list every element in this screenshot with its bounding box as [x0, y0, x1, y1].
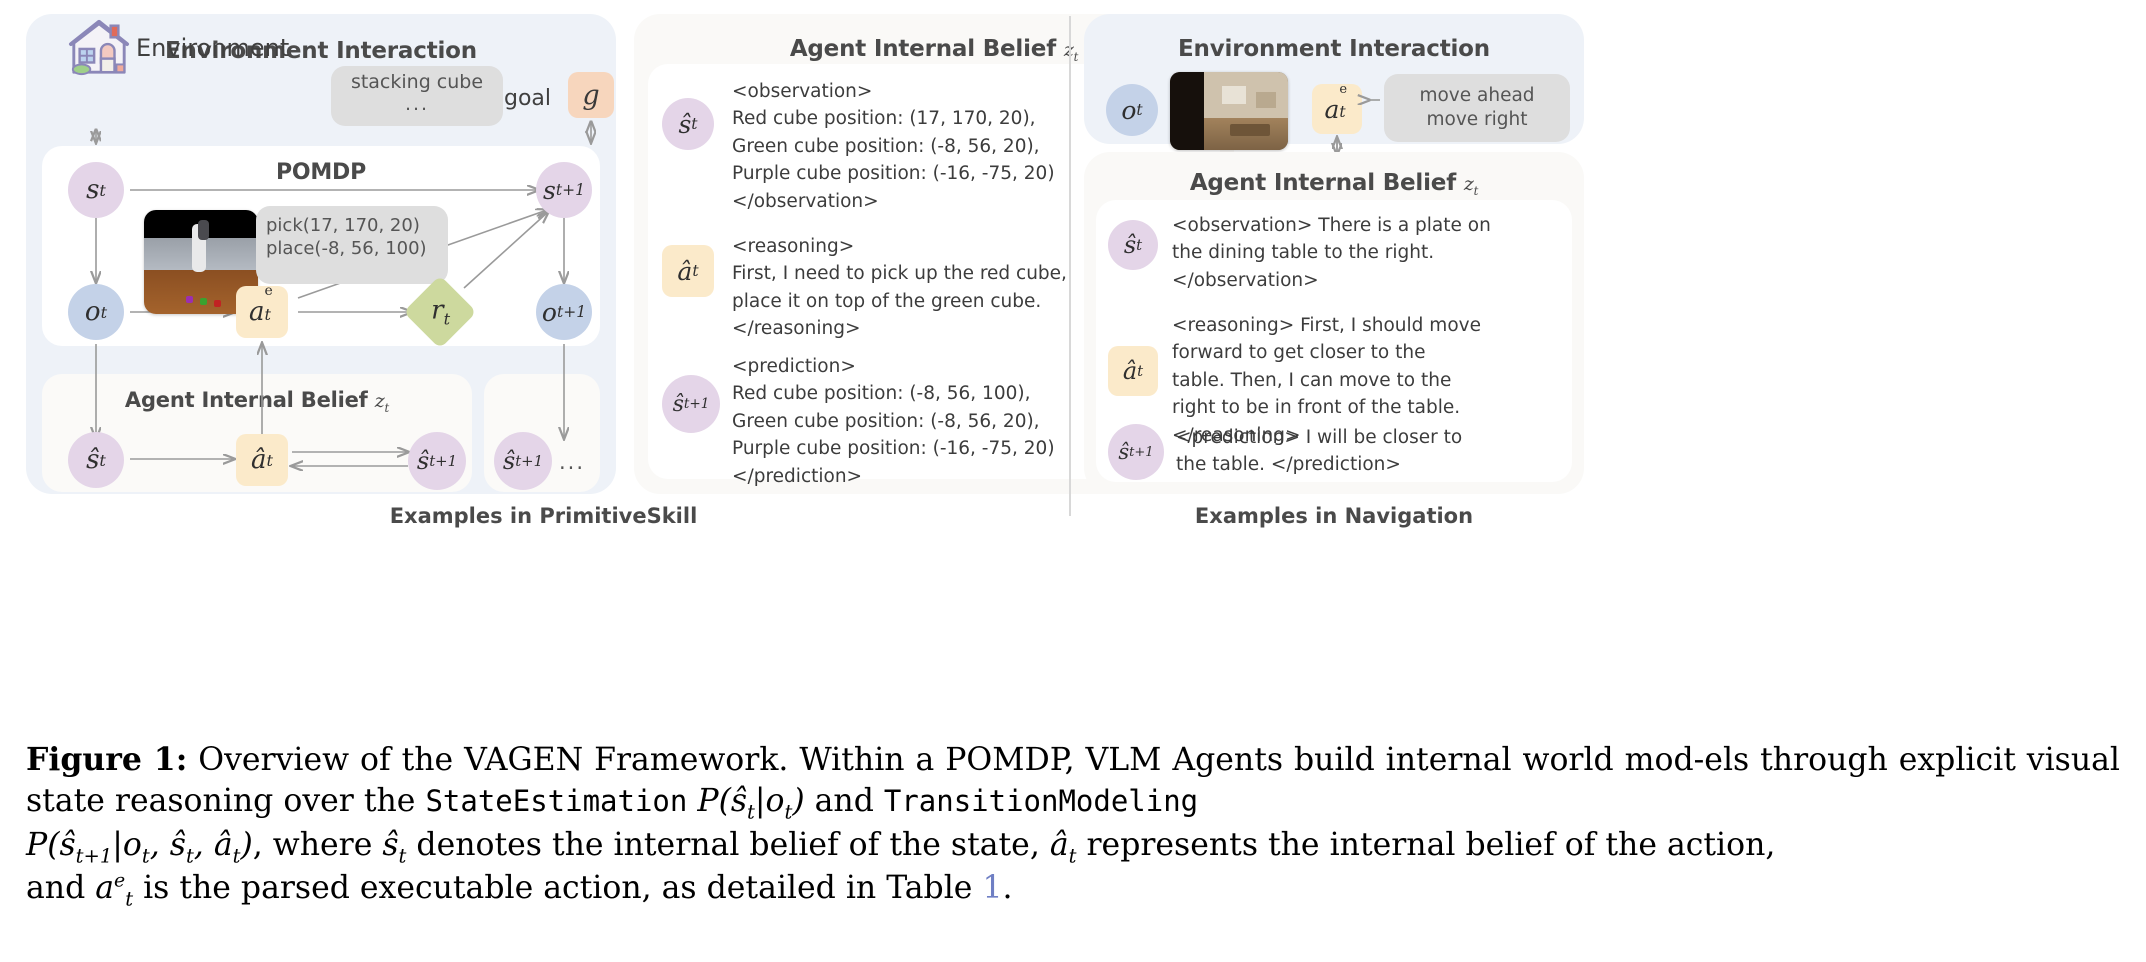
pomdp-title: POMDP [42, 160, 600, 185]
middle-prediction-text: <prediction> Red cube position: (-8, 56,… [732, 353, 1055, 490]
figure-caption: Figure 1: Overview of the VAGEN Framewor… [26, 740, 2120, 912]
node-s-hat-t: ŝt [68, 432, 124, 488]
diagram-area: Environment Interaction Environment [26, 10, 2116, 530]
node-s-hat-t-plus-1-next: ŝt+1 [494, 432, 552, 490]
right-belief-title-text: Agent Internal Belief [1190, 170, 1456, 196]
right-belief-card: ŝt <observation> There is a plate on the… [1096, 200, 1572, 482]
column-divider [1069, 16, 1071, 516]
environment-label: Environment [136, 34, 289, 62]
figure-caption-part3: and [805, 783, 884, 819]
badge-right-s-hat-t: ŝt [1108, 220, 1158, 270]
left-belief-title-text: Agent Internal Belief [125, 388, 368, 412]
badge-a-hat-t: ât [662, 245, 714, 297]
middle-panel-title-sub: zt [1064, 39, 1078, 61]
node-a-hat-t: ât [236, 434, 288, 486]
house-icon [68, 16, 130, 78]
figure-caption-math2: P(ŝt+1|ot, ŝt, ât) [26, 827, 253, 863]
middle-reasoning-text: <reasoning> First, I need to pick up the… [732, 233, 1067, 343]
action-bubble: pick(17, 170, 20) place(-8, 56, 100) [256, 206, 448, 284]
task-bubble: stacking cube ... [331, 66, 503, 126]
right-prediction-text: <prediction> I will be closer to the tab… [1176, 424, 1462, 480]
right-block-prediction: ŝt+1 <prediction> I will be closer to th… [1108, 422, 1566, 480]
right-belief-title: Agent Internal Belief zt [1084, 170, 1584, 198]
figure-caption-label: Figure 1: [26, 741, 187, 778]
node-goal-label: g [582, 80, 599, 111]
node-s-hat-t-plus-1: ŝt+1 [408, 432, 466, 490]
right-column-caption: Examples in Navigation [1084, 504, 1584, 528]
right-belief-panel: Agent Internal Belief zt ŝt <observation… [1084, 152, 1584, 494]
goal-label: goal [504, 86, 551, 111]
left-belief-title-sub: zt [375, 390, 389, 412]
figure-caption-table-link[interactable]: 1 [982, 870, 1002, 906]
figure-caption-part7: and aet is the parsed executable action,… [26, 870, 982, 906]
figure-caption-mono-state-estimation: StateEstimation [425, 784, 687, 818]
node-o-t-plus-1: ot+1 [536, 284, 592, 340]
right-observation-text: <observation> There is a plate on the di… [1172, 212, 1491, 294]
figure-caption-part1: Overview of the VAGEN Framework. Within … [187, 742, 1704, 778]
figure-caption-math1: P(ŝt|ot) [687, 783, 804, 819]
task-bubble-text: stacking cube [331, 72, 503, 94]
right-environment-panel: Environment Interaction ot aett move ahe… [1084, 14, 1584, 144]
right-edges [1084, 14, 1584, 144]
belief-ellipsis: ... [559, 450, 585, 474]
left-column-caption: Examples in PrimitiveSkill [26, 504, 1061, 528]
right-belief-title-sub: zt [1464, 173, 1478, 195]
right-block-observation: ŝt <observation> There is a plate on the… [1108, 210, 1566, 294]
node-a-executable: aett [236, 286, 288, 338]
figure-caption-part4: , where ŝt denotes the internal belief o… [253, 827, 1776, 863]
badge-right-a-hat-t: ât [1108, 346, 1158, 396]
figure-caption-mono-transition-modeling: TransitionModeling [884, 784, 1198, 818]
left-belief-title: Agent Internal Belief zt [42, 388, 472, 415]
node-s-t: st [68, 162, 124, 218]
action-bubble-line1: pick(17, 170, 20) [266, 214, 438, 237]
badge-s-hat-t: ŝt [662, 98, 714, 150]
node-o-t: ot [68, 284, 124, 340]
figure-root: Environment Interaction Environment [0, 0, 2146, 962]
figure-caption-period: . [1003, 870, 1013, 906]
badge-right-s-hat-t-plus-1: ŝt+1 [1108, 424, 1164, 480]
left-environment-panel: Environment Interaction Environment [26, 14, 616, 494]
node-s-t-plus-1: st+1 [536, 162, 592, 218]
action-bubble-line2: place(-8, 56, 100) [266, 237, 438, 260]
middle-observation-text: <observation> Red cube position: (17, 17… [732, 78, 1055, 215]
middle-panel-title-text: Agent Internal Belief [790, 36, 1056, 62]
node-goal-g: g [568, 72, 614, 118]
badge-s-hat-t-plus-1: ŝt+1 [662, 375, 720, 433]
task-bubble-ellipsis: ... [331, 94, 503, 116]
